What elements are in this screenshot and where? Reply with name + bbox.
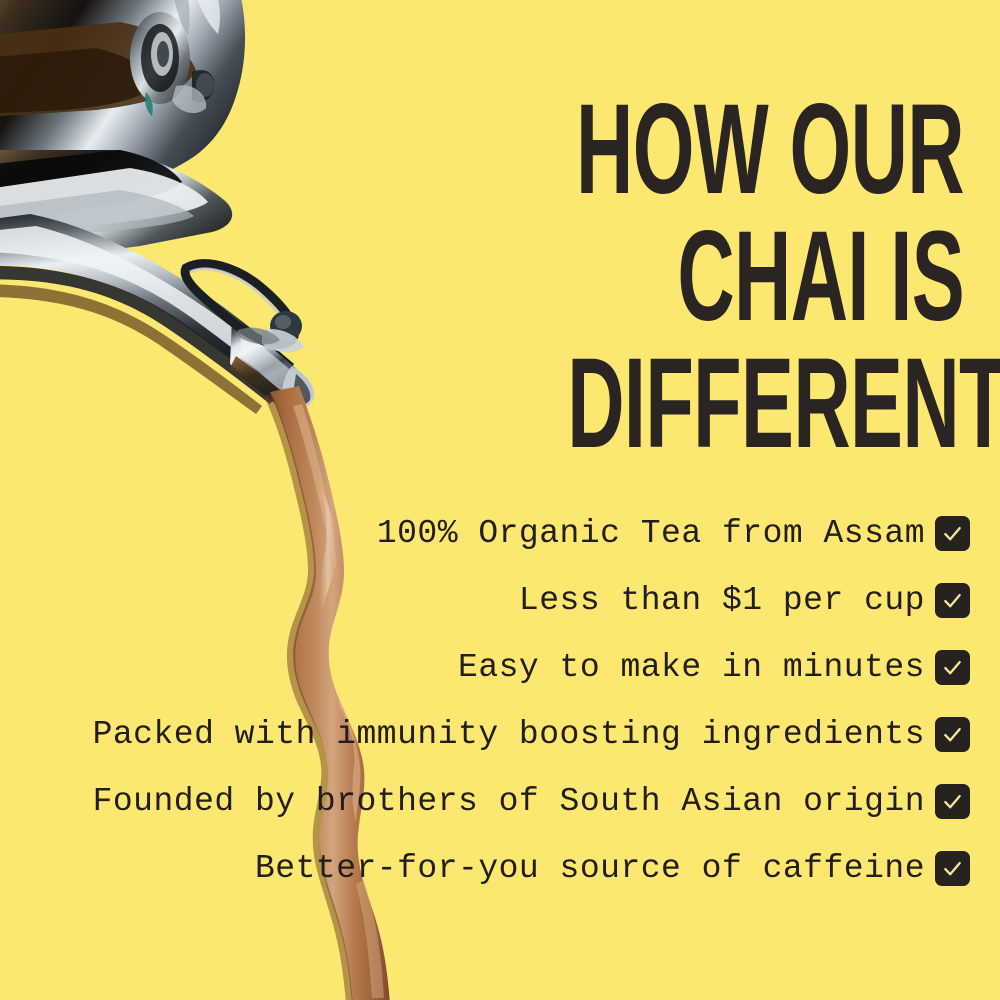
list-item-label: Less than $1 per cup xyxy=(519,584,925,617)
check-icon xyxy=(935,583,970,618)
spout-clip xyxy=(185,264,304,353)
list-item: Better-for-you source of caffeine xyxy=(255,835,970,902)
list-item-label: 100% Organic Tea from Assam xyxy=(377,517,925,550)
headline-line-3: DIFFERENT xyxy=(567,340,964,467)
list-item: Founded by brothers of South Asian origi… xyxy=(93,768,970,835)
list-item-label: Better-for-you source of caffeine xyxy=(255,852,925,885)
headline-line-1: HOW OUR xyxy=(567,86,964,213)
poster-canvas: HOW OUR CHAI IS DIFFERENT 100% Organic T… xyxy=(0,0,1000,1000)
feature-checklist: 100% Organic Tea from Assam Less than $1… xyxy=(0,500,970,902)
check-icon xyxy=(935,784,970,819)
headline-line-2: CHAI IS xyxy=(567,213,964,340)
page-title: HOW OUR CHAI IS DIFFERENT xyxy=(324,86,964,467)
list-item-label: Easy to make in minutes xyxy=(458,651,925,684)
list-item: 100% Organic Tea from Assam xyxy=(377,500,970,567)
list-item-label: Founded by brothers of South Asian origi… xyxy=(93,785,925,818)
check-icon xyxy=(935,851,970,886)
list-item: Packed with immunity boosting ingredient… xyxy=(93,701,970,768)
check-icon xyxy=(935,650,970,685)
check-icon xyxy=(935,717,970,752)
list-item-label: Packed with immunity boosting ingredient… xyxy=(93,718,925,751)
check-icon xyxy=(935,516,970,551)
list-item: Easy to make in minutes xyxy=(458,634,970,701)
list-item: Less than $1 per cup xyxy=(519,567,970,634)
